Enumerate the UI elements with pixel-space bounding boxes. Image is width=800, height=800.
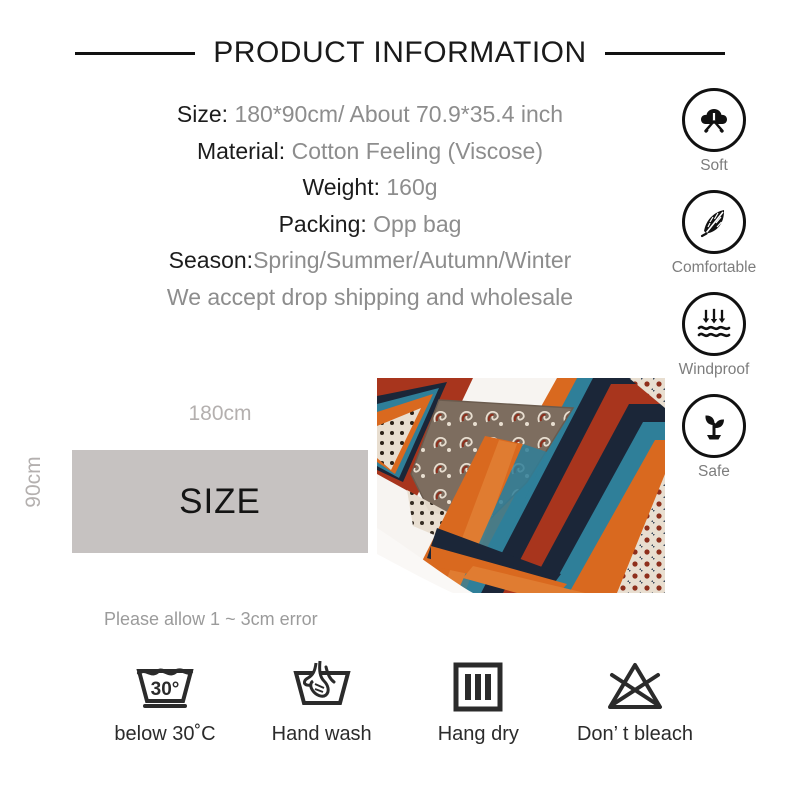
product-information-page: PRODUCT INFORMATION Size: 180*90cm/ Abou… bbox=[0, 0, 800, 800]
do-not-bleach-icon bbox=[560, 655, 710, 717]
care-item-hand-wash: Hand wash bbox=[247, 655, 397, 746]
size-box: SIZE bbox=[72, 450, 368, 553]
feature-label-comfortable: Comfortable bbox=[655, 259, 773, 277]
title-rule-left bbox=[75, 52, 195, 55]
size-width-label: 180cm bbox=[72, 402, 368, 426]
spec-row-season: Season:Spring/Summer/Autumn/Winter bbox=[100, 242, 640, 279]
hand-wash-icon bbox=[247, 655, 397, 717]
spec-row-material: Material: Cotton Feeling (Viscose) bbox=[100, 133, 640, 170]
size-box-text: SIZE bbox=[179, 482, 261, 522]
feature-badge-comfortable: Comfortable bbox=[655, 190, 773, 277]
cotton-boll-icon bbox=[682, 88, 746, 152]
product-photo bbox=[377, 378, 665, 593]
spec-row-packing: Packing: Opp bag bbox=[100, 206, 640, 243]
shipping-note: We accept drop shipping and wholesale bbox=[100, 279, 640, 316]
feature-label-soft: Soft bbox=[655, 157, 773, 175]
spec-value-material: Cotton Feeling (Viscose) bbox=[292, 138, 543, 164]
wash-temperature-value: 30° bbox=[151, 679, 180, 700]
feature-label-safe: Safe bbox=[655, 463, 773, 481]
spec-value-weight: 160g bbox=[386, 174, 437, 200]
spec-value-packing: Opp bag bbox=[373, 211, 461, 237]
hang-dry-icon bbox=[403, 655, 553, 717]
spec-label-season: Season: bbox=[169, 247, 253, 273]
care-item-hang-dry: Hang dry bbox=[403, 655, 553, 746]
care-label-hand-wash: Hand wash bbox=[247, 723, 397, 746]
spec-row-size: Size: 180*90cm/ About 70.9*35.4 inch bbox=[100, 96, 640, 133]
spec-label-packing: Packing: bbox=[279, 211, 367, 237]
feature-badge-soft: Soft bbox=[655, 88, 773, 175]
size-height-label: 90cm bbox=[22, 442, 46, 522]
spec-value-season: Spring/Summer/Autumn/Winter bbox=[253, 247, 571, 273]
care-label-wash-temperature: below 30˚C bbox=[90, 723, 240, 746]
feather-icon bbox=[682, 190, 746, 254]
feature-badge-windproof: Windproof bbox=[655, 292, 773, 379]
title-rule-right bbox=[605, 52, 725, 55]
spec-label-weight: Weight: bbox=[302, 174, 380, 200]
page-title: PRODUCT INFORMATION bbox=[213, 36, 586, 70]
sprout-icon bbox=[682, 394, 746, 458]
feature-badge-list: Soft Comfortable bbox=[655, 88, 773, 496]
page-title-row: PRODUCT INFORMATION bbox=[0, 36, 800, 70]
spec-label-size: Size: bbox=[177, 101, 228, 127]
specification-list: Size: 180*90cm/ About 70.9*35.4 inch Mat… bbox=[100, 96, 640, 315]
care-item-do-not-bleach: Don’ t bleach bbox=[560, 655, 710, 746]
spec-value-size: 180*90cm/ About 70.9*35.4 inch bbox=[234, 101, 563, 127]
wind-waves-icon bbox=[682, 292, 746, 356]
wash-tub-30-icon: 30° bbox=[90, 655, 240, 717]
care-label-hang-dry: Hang dry bbox=[403, 723, 553, 746]
feature-badge-safe: Safe bbox=[655, 394, 773, 481]
care-instruction-list: 30° below 30˚C Hand wash bbox=[90, 655, 710, 746]
spec-row-weight: Weight: 160g bbox=[100, 169, 640, 206]
spec-label-material: Material: bbox=[197, 138, 285, 164]
care-label-do-not-bleach: Don’ t bleach bbox=[560, 723, 710, 746]
feature-label-windproof: Windproof bbox=[655, 361, 773, 379]
error-note: Please allow 1 ~ 3cm error bbox=[104, 609, 318, 630]
care-item-wash-temperature: 30° below 30˚C bbox=[90, 655, 240, 746]
